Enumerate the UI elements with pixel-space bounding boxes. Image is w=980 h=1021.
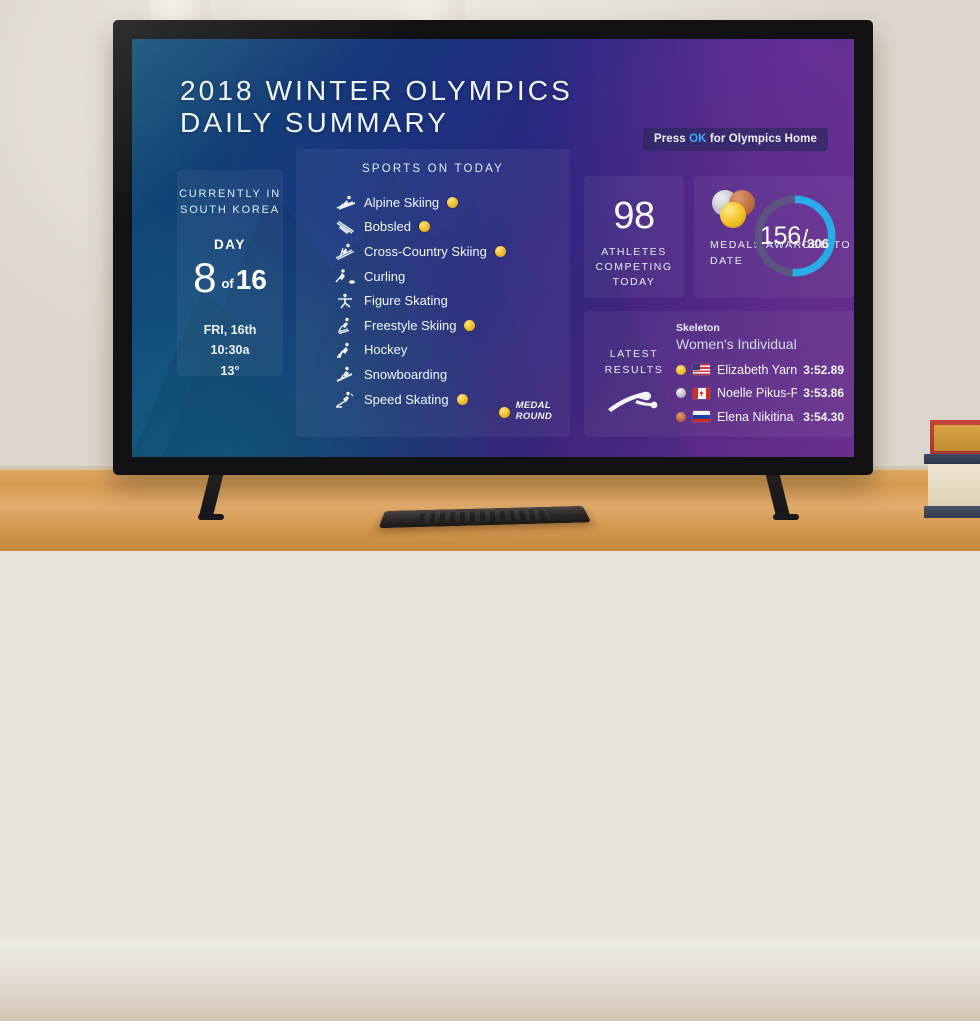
speed-skating-icon <box>334 390 356 408</box>
current-temperature: 13° <box>177 361 283 381</box>
sport-list-item[interactable]: Bobsled <box>334 215 562 240</box>
sport-name: Snowboarding <box>364 367 447 382</box>
result-row[interactable]: Noelle Pikus-Pace…3:53.86 <box>676 382 844 406</box>
sport-list-item[interactable]: Figure Skating <box>334 288 562 313</box>
gold-medal-dot-icon <box>676 365 686 375</box>
medals-awarded-value: 156 <box>760 222 801 251</box>
medal-round-dot-icon <box>457 394 468 405</box>
day-total: 16 <box>236 264 267 295</box>
athlete-name: Elizabeth Yarnold <box>717 363 797 377</box>
day-counter: 8of16 <box>177 254 283 302</box>
desk-sheen <box>0 940 980 1021</box>
result-row[interactable]: Elena Nikitina3:54.30 <box>676 405 844 429</box>
flag-ru-icon <box>693 411 710 422</box>
sport-name: Curling <box>364 269 405 284</box>
sport-list-item[interactable]: Freestyle Skiing <box>334 313 562 338</box>
athlete-name: Noelle Pikus-Pace… <box>717 386 797 400</box>
alpine-skiing-icon <box>334 193 356 211</box>
current-date: FRI, 16th <box>177 320 283 340</box>
medal-round-legend-line2: ROUND <box>516 412 552 423</box>
athletes-count: 98 <box>584 195 684 238</box>
cross-country-skiing-icon <box>334 242 356 260</box>
current-status-panel: CURRENTLY IN SOUTH KOREA DAY 8of16 FRI, … <box>177 170 283 376</box>
results-list: Elizabeth Yarnold3:52.89Noelle Pikus-Pac… <box>676 358 844 429</box>
medal-round-dot-icon <box>495 246 506 257</box>
latest-results-panel: LATEST RESULTS Skeleton Women's Individu… <box>584 311 854 437</box>
sport-name: Hockey <box>364 342 407 357</box>
tv-foot-right <box>773 514 799 520</box>
press-ok-key: OK <box>689 133 706 145</box>
medal-round-dot-icon <box>419 221 430 232</box>
gold-medal-icon <box>720 202 746 228</box>
sport-list-item[interactable]: Hockey <box>334 338 562 363</box>
remote-buttons <box>419 510 553 523</box>
medal-round-dot-icon <box>447 197 458 208</box>
skeleton-icon <box>604 383 662 417</box>
current-heading: CURRENTLY IN SOUTH KOREA <box>177 187 283 219</box>
day-of-label: of <box>221 276 233 291</box>
sport-name: Figure Skating <box>364 293 448 308</box>
athlete-time: 3:52.89 <box>803 363 844 377</box>
current-time: 10:30a <box>177 340 283 360</box>
medal-round-dot-icon <box>499 407 510 418</box>
press-ok-suffix: for Olympics Home <box>707 133 817 145</box>
snowboarding-icon <box>334 365 356 383</box>
donut-value-text: 156/306 <box>748 189 842 283</box>
bronze-medal-dot-icon <box>676 412 686 422</box>
athlete-name: Elena Nikitina <box>717 410 797 424</box>
sport-list-item[interactable]: Snowboarding <box>334 362 562 387</box>
sport-name: Cross-Country Skiing <box>364 244 487 259</box>
flag-us-icon <box>693 364 710 375</box>
tv-foot-left <box>198 514 224 520</box>
result-row[interactable]: Elizabeth Yarnold3:52.89 <box>676 358 844 382</box>
press-ok-banner[interactable]: Press OK for Olympics Home <box>643 128 828 151</box>
sports-on-today-panel: SPORTS ON TODAY Alpine SkiingBobsledCros… <box>296 149 570 437</box>
athletes-label: ATHLETES COMPETING TODAY <box>584 245 684 291</box>
flag-ca-icon <box>693 388 710 399</box>
athlete-time: 3:54.30 <box>803 410 844 424</box>
result-sport-name: Skeleton <box>676 322 720 334</box>
day-label: DAY <box>177 237 283 252</box>
medal-round-dot-icon <box>464 320 475 331</box>
medal-round-legend-text: MEDAL ROUND <box>516 401 552 423</box>
medals-progress-donut: 156/306 <box>748 189 842 283</box>
athletes-competing-panel: 98 ATHLETES COMPETING TODAY <box>584 176 684 298</box>
sport-name: Speed Skating <box>364 392 449 407</box>
tv-screen: 2018 WINTER OLYMPICS DAILY SUMMARY Press… <box>132 39 854 457</box>
book-navy-base <box>924 506 980 518</box>
sport-name: Freestyle Skiing <box>364 318 456 333</box>
page-title-line2: DAILY SUMMARY <box>180 107 573 139</box>
freestyle-skiing-icon <box>334 316 356 334</box>
sports-heading: SPORTS ON TODAY <box>296 163 570 175</box>
medal-round-legend: MEDAL ROUND <box>499 401 552 423</box>
press-ok-prefix: Press <box>654 133 689 145</box>
day-number: 8 <box>193 254 216 301</box>
current-meta: FRI, 16th 10:30a 13° <box>177 320 283 381</box>
sport-name: Bobsled <box>364 219 411 234</box>
sport-list-item[interactable]: Alpine Skiing <box>334 190 562 215</box>
curling-icon <box>334 267 356 285</box>
athlete-time: 3:53.86 <box>803 386 844 400</box>
silver-medal-dot-icon <box>676 388 686 398</box>
result-event-name: Women's Individual <box>676 336 797 352</box>
bobsled-icon <box>334 218 356 236</box>
page-title-line1: 2018 WINTER OLYMPICS <box>180 75 573 107</box>
sport-list-item[interactable]: Curling <box>334 264 562 289</box>
sport-list-item[interactable]: Cross-Country Skiing <box>334 239 562 264</box>
figure-skating-icon <box>334 292 356 310</box>
sport-name: Alpine Skiing <box>364 195 439 210</box>
book-cream <box>928 464 980 506</box>
hockey-icon <box>334 341 356 359</box>
sports-list: Alpine SkiingBobsledCross-Country Skiing… <box>334 190 562 411</box>
book-navy-thin <box>924 454 980 464</box>
television: 2018 WINTER OLYMPICS DAILY SUMMARY Press… <box>113 20 873 475</box>
medals-awarded-panel: MEDALS AWARDED TO DATE 156/306 <box>694 176 854 298</box>
medals-total-value: 306 <box>807 236 829 251</box>
book-red-pages <box>934 425 980 451</box>
latest-results-label: LATEST RESULTS <box>598 347 670 379</box>
book-stack <box>924 420 980 551</box>
room-scene: 2018 WINTER OLYMPICS DAILY SUMMARY Press… <box>0 0 980 551</box>
page-title: 2018 WINTER OLYMPICS DAILY SUMMARY <box>180 75 573 140</box>
